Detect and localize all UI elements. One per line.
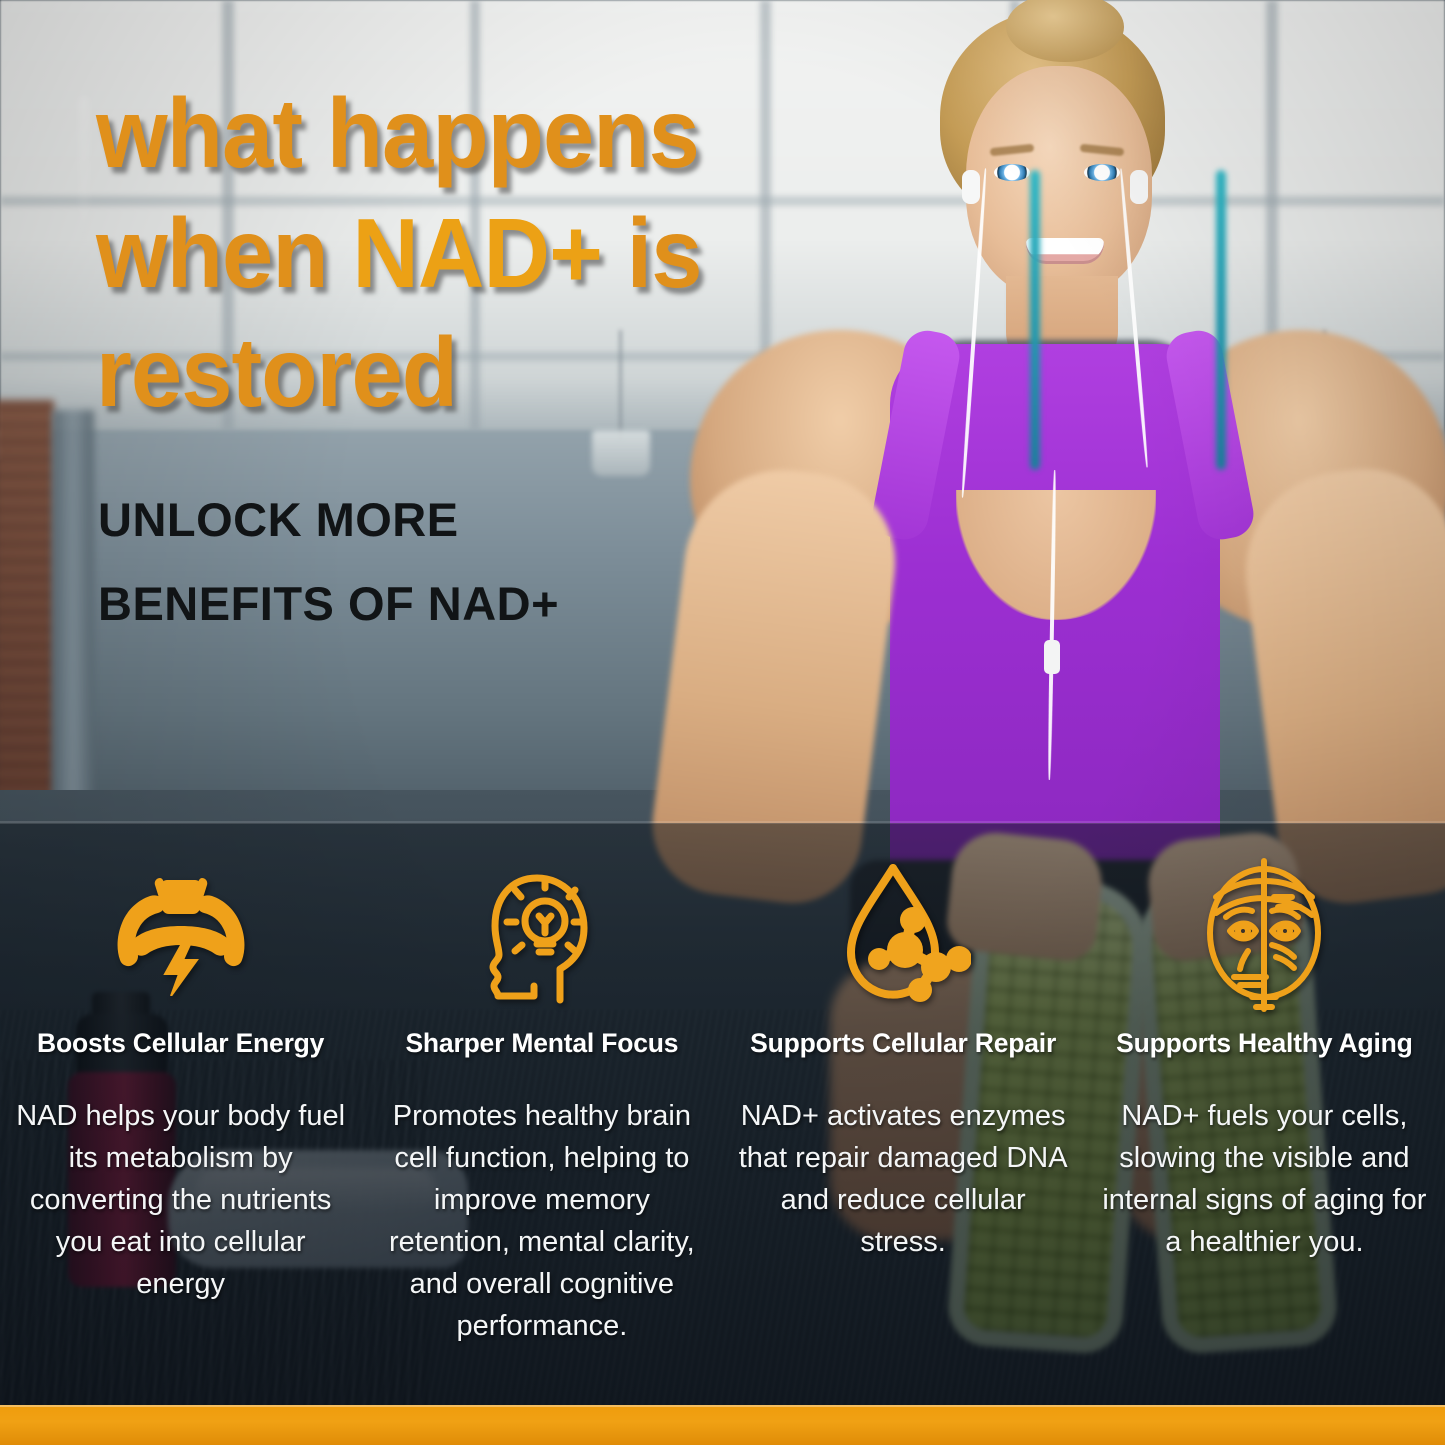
subtitle-line-1: UNLOCK MORE: [98, 478, 738, 562]
benefit-title: Sharper Mental Focus: [405, 1028, 678, 1059]
benefit-body: NAD+ activates enzymes that repair damag…: [738, 1095, 1068, 1263]
headline-line-2-post: is: [602, 198, 702, 308]
page-title: what happens when NAD+ is restored: [96, 74, 839, 433]
benefit-body: NAD helps your body fuel its metabolism …: [16, 1095, 346, 1305]
headline-line-2-pre: when: [96, 198, 352, 308]
overlay-top-edge: [0, 821, 1445, 824]
benefit-body: NAD+ fuels your cells, slowing the visib…: [1099, 1095, 1429, 1263]
head-lightbulb-icon: [483, 860, 601, 1010]
benefit-title: Supports Cellular Repair: [750, 1028, 1056, 1059]
droplet-molecule-icon: [835, 860, 971, 1010]
aging-face-icon: [1194, 860, 1334, 1010]
headline-nad-plus: NAD+: [352, 198, 602, 308]
nad-benefits-poster: what happens when NAD+ is restored UNLOC…: [0, 0, 1445, 1445]
benefit-card-supports-healthy-aging: Supports Healthy Aging NAD+ fuels your c…: [1084, 860, 1445, 1405]
subtitle-line-2: BENEFITS OF NAD+: [98, 562, 738, 646]
bottom-orange-bar: [0, 1405, 1445, 1445]
benefit-card-boosts-cellular-energy: Boosts Cellular Energy NAD helps your bo…: [0, 860, 361, 1405]
flexing-muscles-lightning-icon: [115, 860, 247, 1010]
benefits-row: Boosts Cellular Energy NAD helps your bo…: [0, 860, 1445, 1405]
benefit-title: Boosts Cellular Energy: [37, 1028, 324, 1059]
benefit-card-sharper-mental-focus: Sharper Mental Focus Promotes healthy br…: [361, 860, 722, 1405]
benefit-title: Supports Healthy Aging: [1116, 1028, 1412, 1059]
benefit-card-supports-cellular-repair: Supports Cellular Repair NAD+ activates …: [723, 860, 1084, 1405]
subtitle: UNLOCK MORE BENEFITS OF NAD+: [98, 478, 738, 645]
headline-line-3: restored: [96, 313, 839, 433]
headline-line-2: when NAD+ is: [96, 194, 839, 314]
headline-line-1: what happens: [96, 74, 839, 194]
benefit-body: Promotes healthy brain cell function, he…: [377, 1095, 707, 1347]
